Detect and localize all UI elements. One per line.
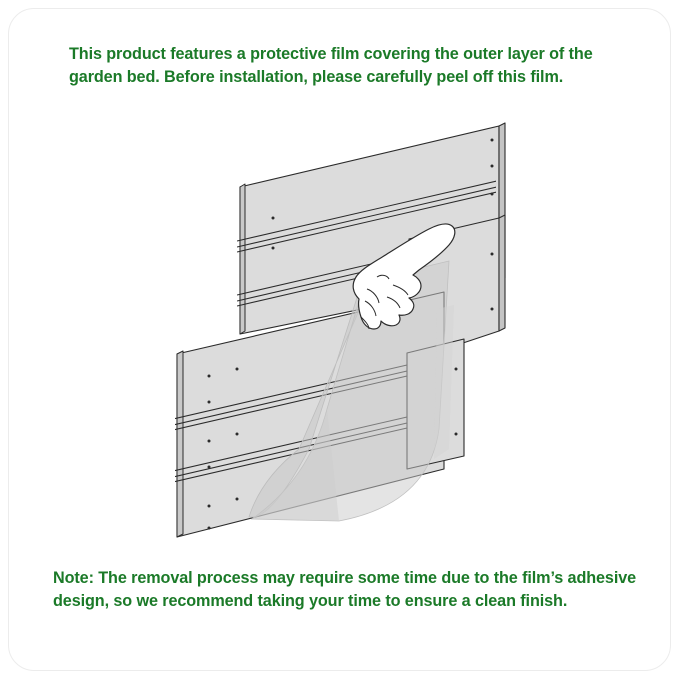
upper-board-plate-1	[240, 126, 499, 334]
panel-assembly-lower-right	[407, 339, 464, 469]
finger-crease-4	[393, 285, 408, 295]
hand-peeling-film	[353, 224, 455, 329]
film-body	[252, 261, 449, 521]
upper-board-screw-holes	[272, 139, 494, 250]
right-board-edge-cap-2	[499, 215, 505, 331]
lower-board-stack	[177, 292, 444, 537]
panel-assembly-lower	[173, 292, 446, 537]
protective-film-sheet	[249, 261, 454, 521]
finger-crease-3	[387, 297, 400, 308]
upper-board-edge-cap	[499, 123, 505, 281]
film-main-sheet	[249, 285, 364, 517]
film-curl-lower-edge	[252, 409, 339, 521]
film-pinch-tip	[361, 317, 369, 329]
panel-assembly-upper	[237, 123, 505, 334]
upper-board-stack	[240, 123, 505, 334]
film-right-flap	[434, 305, 454, 459]
finger-crease-2	[365, 301, 376, 316]
intro-paragraph: This product features a protective film …	[69, 43, 629, 89]
finger-crease-1	[367, 289, 379, 303]
lower-board-plate-1	[177, 292, 444, 537]
lower-board-screw-holes	[208, 368, 239, 530]
lower-right-board-plate	[407, 339, 464, 469]
panel-assembly-right-lower	[409, 215, 505, 361]
note-paragraph: Note: The removal process may require so…	[53, 567, 643, 613]
upper-board-left-return	[240, 184, 245, 334]
lower-right-screw-holes	[455, 368, 458, 436]
upper-board-ribs	[237, 180, 501, 306]
hand-silhouette	[353, 224, 455, 329]
right-board-plate-2	[409, 218, 499, 361]
right-board-screw-holes-2	[491, 253, 494, 311]
thumb-crease	[377, 275, 389, 279]
instruction-card: This product features a protective film …	[8, 8, 671, 671]
lower-board-left-return	[177, 351, 183, 537]
lower-board-ribs	[173, 356, 446, 482]
